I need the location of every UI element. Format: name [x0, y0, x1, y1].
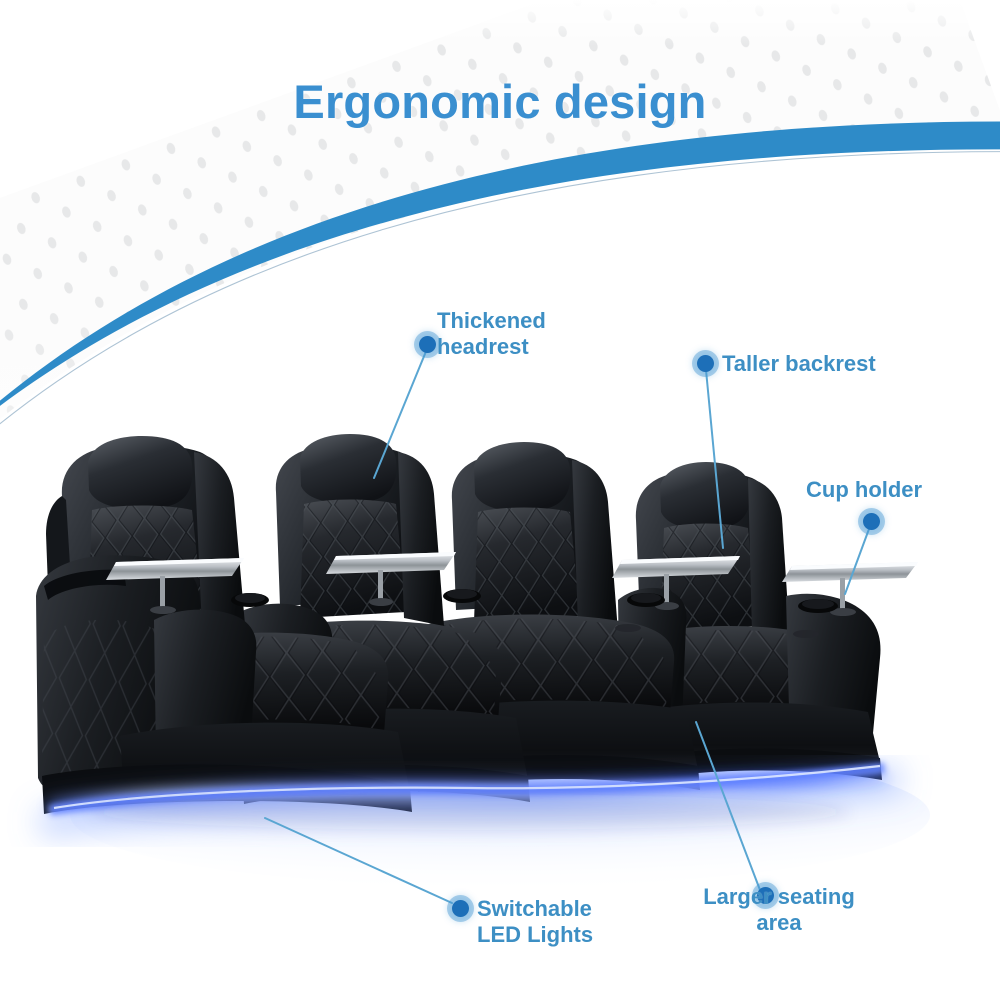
- callout-label-larger-seating-area: Larger seating area: [703, 884, 855, 935]
- leader-line-thickened-headrest: [374, 349, 427, 478]
- callout-label-switchable-led-lights: Switchable LED Lights: [477, 896, 593, 947]
- callout-dot-taller-backrest: [697, 355, 714, 372]
- callout-dot-cup-holder: [863, 513, 880, 530]
- leader-line-larger-seating-area: [696, 722, 760, 890]
- leader-line-cup-holder: [845, 529, 869, 594]
- callout-label-thickened-headrest: Thickened headrest: [437, 308, 546, 359]
- product-feature-infographic: Ergonomic design: [0, 0, 1000, 1000]
- leader-line-switchable-led-lights: [265, 818, 452, 903]
- callout-label-taller-backrest: Taller backrest: [722, 351, 876, 377]
- callout-dot-thickened-headrest: [419, 336, 436, 353]
- callout-dot-switchable-led-lights: [452, 900, 469, 917]
- leader-line-taller-backrest: [706, 370, 723, 548]
- callout-label-cup-holder: Cup holder: [806, 477, 922, 503]
